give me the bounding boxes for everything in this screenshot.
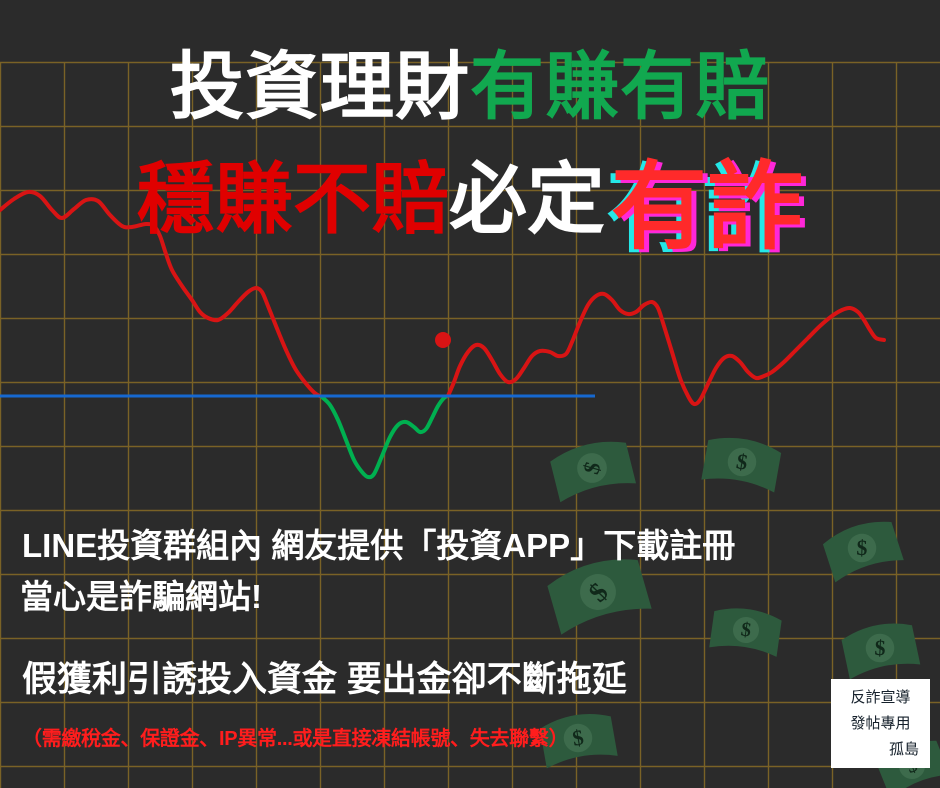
body-text-line-3: 假獲利引誘投入資金 要出金卻不斷拖延 xyxy=(22,660,627,700)
headline-1-white: 投資理財 xyxy=(170,45,470,128)
headline-line-2: 穩賺不賠必定有詐有詐有詐 xyxy=(0,160,940,256)
watermark-line-3: 孤島 xyxy=(838,737,923,763)
watermark-box: 反詐宣導 發帖專用 孤島 xyxy=(831,679,930,768)
headline-2-glitch-word: 有詐有詐有詐 xyxy=(611,160,803,256)
headline-1-green: 有賺有賠 xyxy=(470,45,770,128)
headline-2-red: 穩賺不賠 xyxy=(137,155,449,243)
glitch-main-layer: 有詐 xyxy=(611,154,803,261)
body-text-line-2: 當心是詐騙網站! xyxy=(20,578,262,616)
headline-line-1: 投資理財有賺有賠 xyxy=(0,50,940,124)
chart-series-price-recovery-above-breakeven xyxy=(448,294,884,404)
body-text-line-1: LINE投資群組內 網友提供「投資APP」下載註冊 xyxy=(22,527,735,565)
watermark-line-1: 反詐宣導 xyxy=(838,685,923,711)
end-marker-dot xyxy=(435,332,451,348)
poster-root: $$$$$$$$ 投資理財有賺有賠 穩賺不賠必定有詐有詐有詐 LINE投資群組內… xyxy=(0,0,940,788)
chart-annotations xyxy=(0,332,595,396)
watermark-line-2: 發帖專用 xyxy=(838,711,923,737)
headline-2-white: 必定 xyxy=(449,155,605,243)
body-note-text: （需繳稅金、保證金、IP異常...或是直接凍結帳號、失去聯繫） xyxy=(22,722,568,751)
